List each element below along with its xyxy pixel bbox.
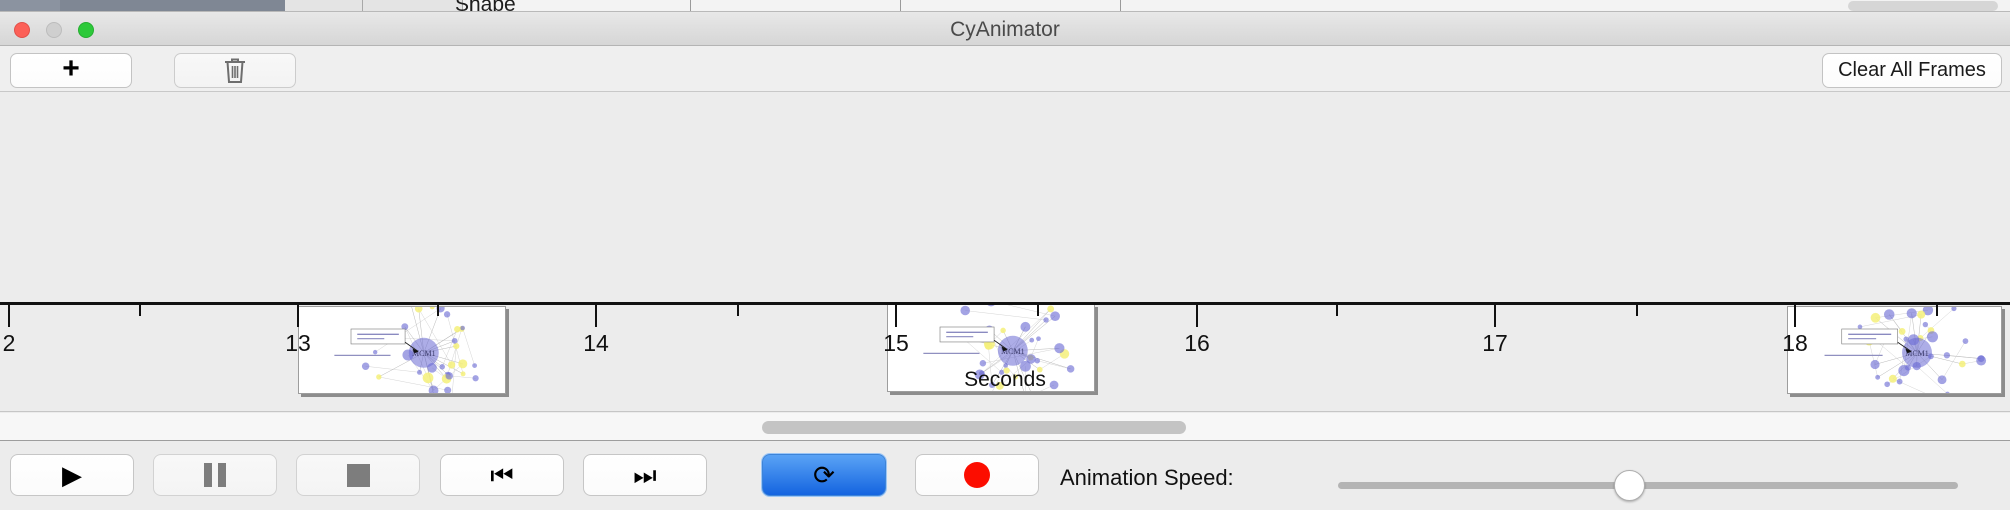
animation-speed-label: Animation Speed: — [1060, 465, 1234, 491]
add-frame-button[interactable]: + — [10, 53, 132, 88]
timeline-tick-label: 14 — [583, 330, 609, 357]
animation-speed-slider-thumb[interactable] — [1614, 470, 1645, 501]
timeline-tick-label: 15 — [883, 330, 909, 357]
timeline-tick-label: 16 — [1184, 330, 1210, 357]
loop-button[interactable]: ⟳ — [762, 454, 886, 496]
skip-to-end-button[interactable]: ⏭ — [583, 454, 707, 496]
timeline-tick — [1636, 305, 1638, 316]
loop-icon: ⟳ — [813, 462, 835, 488]
background-window-label: Shape — [455, 0, 516, 12]
timeline-tick-label: 13 — [285, 330, 311, 357]
background-window-strip: Shape — [0, 0, 2010, 12]
toolbar: + Clear All Frames — [0, 46, 2010, 92]
timeline-tick — [1936, 305, 1938, 316]
pause-icon — [204, 463, 226, 487]
skip-forward-icon: ⏭ — [633, 462, 656, 488]
timeline-tick — [1336, 305, 1338, 316]
clear-all-frames-label: Clear All Frames — [1838, 59, 1986, 82]
timeline-tick — [1794, 305, 1796, 327]
background-tab-1 — [285, 0, 363, 12]
background-titlebar-left — [0, 0, 60, 12]
timeline-tick-label: 2 — [3, 330, 16, 357]
timeline-tick — [437, 305, 439, 316]
timeline-tick — [737, 305, 739, 316]
page-title: CyAnimator — [0, 18, 2010, 42]
play-button[interactable]: ▶ — [10, 454, 134, 496]
animation-speed-slider[interactable] — [1338, 482, 1958, 489]
timeline-panel[interactable]: MCM1 MCM1 MCM1 2131415161718 Seconds — [0, 92, 2010, 412]
pause-button[interactable] — [153, 454, 277, 496]
timeline-tick — [1494, 305, 1496, 327]
timeline-tick — [1037, 305, 1039, 316]
background-scrollbar — [1848, 1, 1998, 11]
skip-back-icon: ⏮ — [490, 462, 513, 488]
play-icon: ▶ — [62, 462, 82, 488]
stop-icon — [347, 464, 370, 487]
record-icon — [964, 462, 990, 488]
timeline-tick-label: 17 — [1482, 330, 1508, 357]
background-divider-4 — [1120, 0, 1121, 12]
timeline-scrollbar-thumb[interactable] — [762, 421, 1186, 434]
trash-icon — [223, 57, 247, 85]
clear-all-frames-button[interactable]: Clear All Frames — [1822, 53, 2002, 88]
background-titlebar-left2 — [60, 0, 285, 12]
background-tab-2 — [363, 0, 463, 12]
delete-frame-button[interactable] — [174, 53, 296, 88]
timeline-tick — [1196, 305, 1198, 327]
timeline-scrollbar[interactable] — [0, 413, 2010, 441]
timeline-tick-label: 18 — [1782, 330, 1808, 357]
timeline-tick — [139, 305, 141, 316]
axis-title: Seconds — [0, 368, 2010, 392]
skip-to-start-button[interactable]: ⏮ — [440, 454, 564, 496]
timeline-tick — [297, 305, 299, 327]
window-titlebar: CyAnimator — [0, 12, 2010, 46]
background-divider-2 — [690, 0, 691, 12]
timeline-tick — [595, 305, 597, 327]
stop-button[interactable] — [296, 454, 420, 496]
playback-toolbar: ▶⏮⏭⟳ Animation Speed: — [0, 442, 2010, 510]
timeline-axis — [0, 302, 2010, 305]
timeline-tick — [8, 305, 10, 327]
record-button[interactable] — [915, 454, 1039, 496]
plus-icon: + — [62, 54, 80, 84]
timeline-tick — [895, 305, 897, 327]
background-divider-3 — [900, 0, 901, 12]
